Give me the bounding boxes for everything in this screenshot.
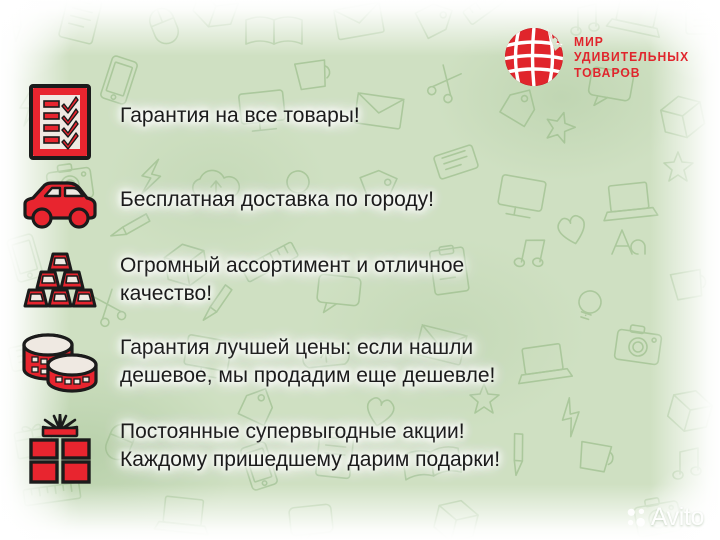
gold-bars-icon — [23, 252, 97, 310]
feature-item: Огромный ассортимент и отличное качество… — [0, 248, 720, 328]
feature-icon-slot — [0, 84, 120, 160]
brand-wordmark: МИР УДИВИТЕЛЬНЫХ ТОВАРОВ — [574, 34, 689, 81]
feature-text: Бесплатная доставка по городу! — [120, 186, 434, 214]
gift-box-icon — [25, 414, 95, 486]
feature-icon-slot — [0, 248, 120, 310]
feature-text: Гарантия на все товары! — [120, 102, 360, 130]
brand-line-3: ТОВАРОВ — [574, 65, 689, 81]
brand-logo: МИР УДИВИТЕЛЬНЫХ ТОВАРОВ — [503, 26, 698, 88]
feature-item: Бесплатная доставка по городу! — [0, 172, 720, 248]
feature-text-slot: Гарантия лучшей цены: если нашли дешевое… — [120, 328, 720, 390]
brand-line-1: МИР — [574, 34, 689, 50]
avito-wordmark: Avito — [651, 505, 704, 530]
brand-line-2: УДИВИТЕЛЬНЫХ — [574, 49, 689, 65]
feature-item: Постоянные супервыгодные акции! Каждому … — [0, 410, 720, 496]
coins-icon — [20, 332, 100, 394]
feature-item: Гарантия лучшей цены: если нашли дешевое… — [0, 328, 720, 410]
feature-text: Огромный ассортимент и отличное качество… — [120, 252, 464, 308]
checklist-icon — [29, 84, 91, 160]
feature-list: Гарантия на все товары! Бесплатная доста… — [0, 84, 720, 496]
feature-item: Гарантия на все товары! — [0, 84, 720, 172]
feature-text-slot: Постоянные супервыгодные акции! Каждому … — [120, 410, 720, 474]
feature-icon-slot — [0, 410, 120, 486]
avito-dots-icon — [627, 508, 646, 527]
feature-icon-slot — [0, 328, 120, 394]
feature-icon-slot — [0, 172, 120, 230]
feature-text: Гарантия лучшей цены: если нашли дешевое… — [120, 334, 495, 390]
feature-text: Постоянные супервыгодные акции! Каждому … — [120, 418, 500, 474]
feature-text-slot: Гарантия на все товары! — [120, 84, 720, 130]
avito-watermark: Avito — [627, 505, 704, 530]
promo-poster: МИР УДИВИТЕЛЬНЫХ ТОВАРОВ — [0, 0, 720, 540]
red-globe-icon — [503, 26, 565, 88]
car-icon — [21, 180, 99, 230]
feature-text-slot: Бесплатная доставка по городу! — [120, 172, 720, 214]
feature-text-slot: Огромный ассортимент и отличное качество… — [120, 248, 720, 308]
